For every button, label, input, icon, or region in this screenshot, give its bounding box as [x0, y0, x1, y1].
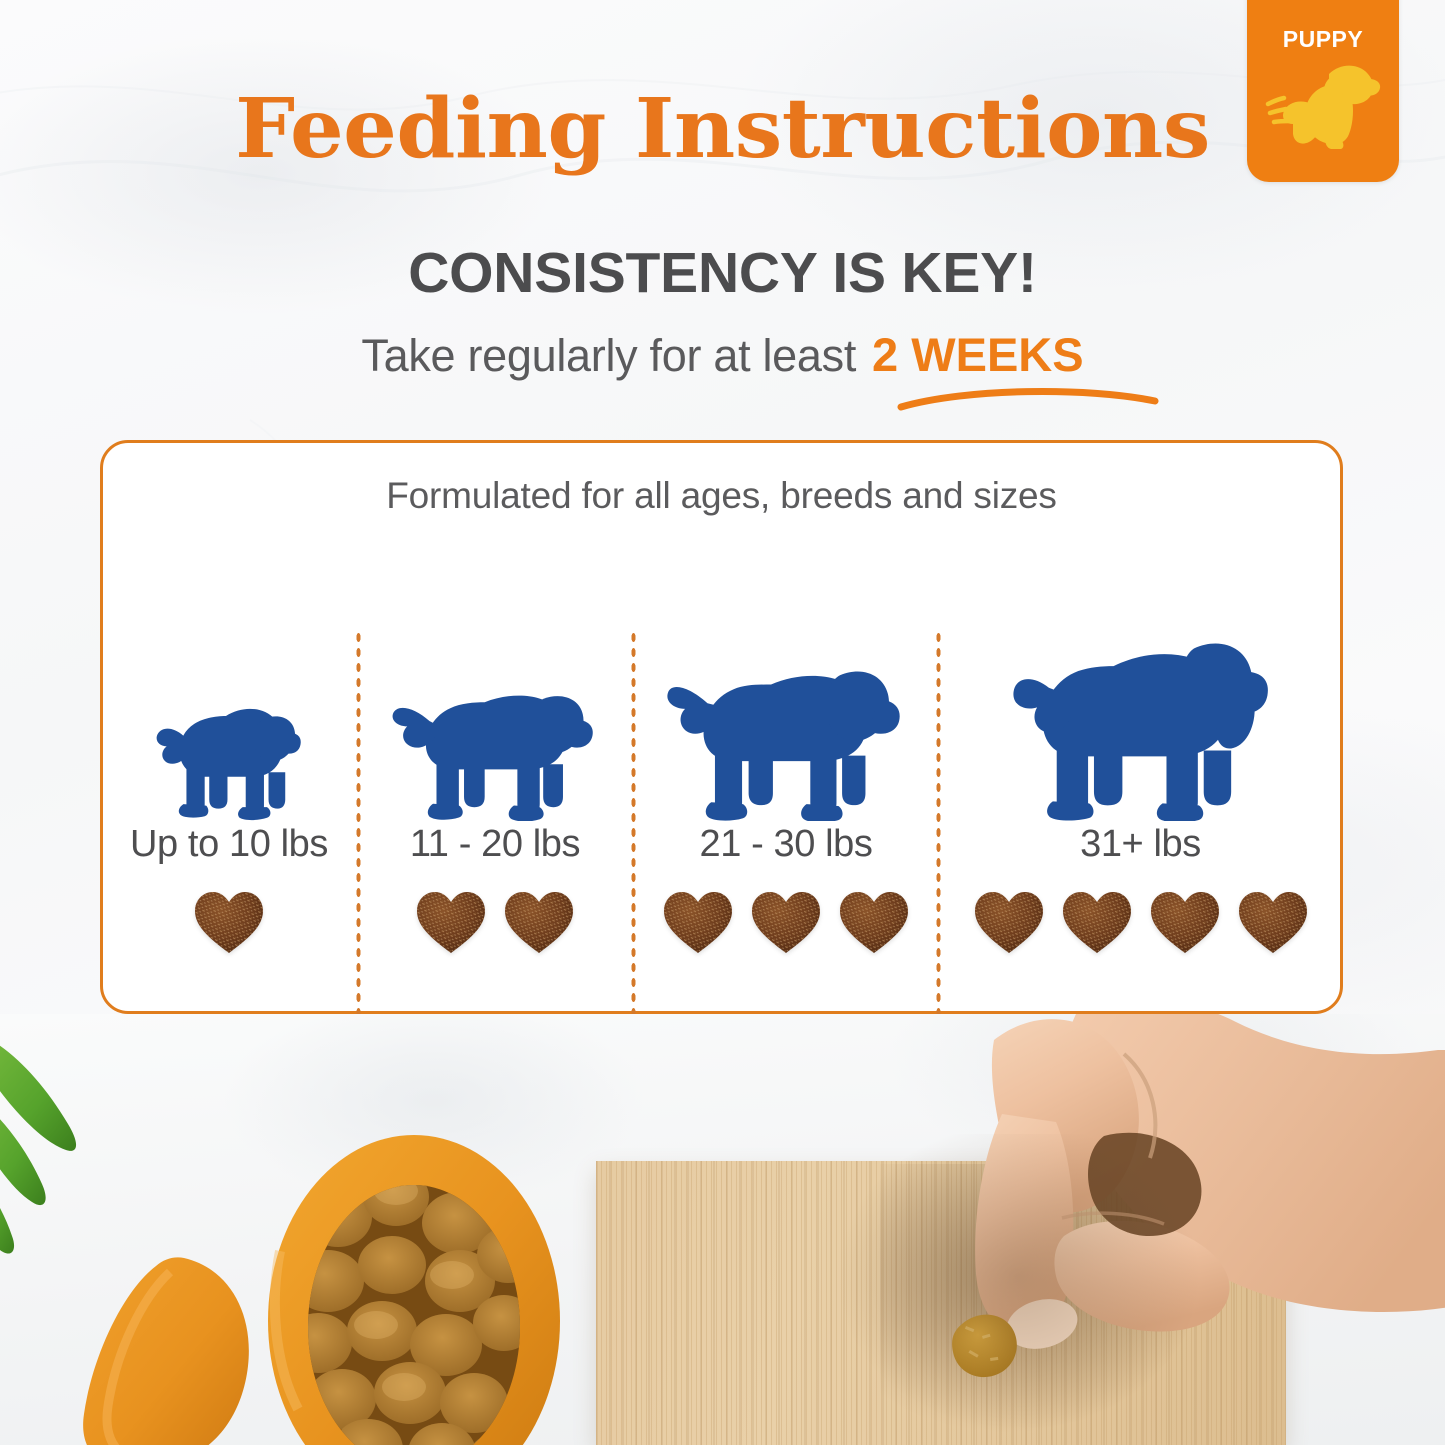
heart-kibble-icon — [1060, 887, 1134, 955]
infographic-root: PUPPY Feeding Instructi — [0, 0, 1445, 1445]
tagline-accent-text: 2 WEEKS — [872, 328, 1084, 381]
puppy-silhouette-icon — [391, 673, 599, 821]
feeding-column-3: 21 - 30 lbs — [635, 535, 937, 1011]
tagline: Take regularly for at least2 WEEKS — [0, 331, 1445, 378]
page-title: Feeding Instructions — [0, 88, 1445, 170]
product-photo-scene — [0, 1014, 1445, 1445]
weight-label-3: 21 - 30 lbs — [635, 823, 937, 866]
underline-swoosh-icon — [897, 381, 1159, 413]
dog-illustration-2 — [359, 621, 631, 821]
feeding-column-4: 31+ lbs — [941, 535, 1340, 1011]
dog-illustration-4 — [941, 621, 1340, 821]
feeding-chart-card: Formulated for all ages, breeds and size… — [100, 440, 1343, 1014]
weight-label-1: Up to 10 lbs — [103, 823, 355, 866]
treat-count-4 — [941, 887, 1340, 955]
puppy-badge-label: PUPPY — [1247, 26, 1399, 53]
tagline-plain-text: Take regularly for at least — [361, 330, 856, 381]
weight-label-2: 11 - 20 lbs — [359, 823, 631, 866]
feeding-columns: Up to 10 lbs — [103, 535, 1340, 1011]
heart-kibble-icon — [749, 887, 823, 955]
puppy-silhouette-icon — [664, 649, 908, 821]
dog-illustration-3 — [635, 621, 937, 821]
dog-illustration-1 — [103, 621, 355, 821]
heart-kibble-icon — [502, 887, 576, 955]
heart-kibble-icon — [972, 887, 1046, 955]
heart-kibble-icon — [837, 887, 911, 955]
treat-count-2 — [359, 887, 631, 955]
puppy-silhouette-icon — [1007, 625, 1275, 821]
heart-kibble-icon — [1236, 887, 1310, 955]
heart-kibble-icon — [414, 887, 488, 955]
orange-bowl-with-kibble-icon — [246, 1131, 582, 1445]
page-subtitle: CONSISTENCY IS KEY! — [0, 245, 1445, 302]
heart-kibble-icon — [192, 887, 266, 955]
weight-label-4: 31+ lbs — [941, 823, 1340, 866]
feeding-column-1: Up to 10 lbs — [103, 535, 355, 1011]
card-heading: Formulated for all ages, breeds and size… — [103, 475, 1340, 517]
feeding-column-2: 11 - 20 lbs — [359, 535, 631, 1011]
heart-kibble-icon — [1148, 887, 1222, 955]
puppy-silhouette-icon — [153, 693, 305, 821]
hand-holding-kibble-icon — [866, 1014, 1445, 1426]
treat-count-1 — [103, 887, 355, 955]
heart-kibble-icon — [661, 887, 735, 955]
treat-count-3 — [635, 887, 937, 955]
